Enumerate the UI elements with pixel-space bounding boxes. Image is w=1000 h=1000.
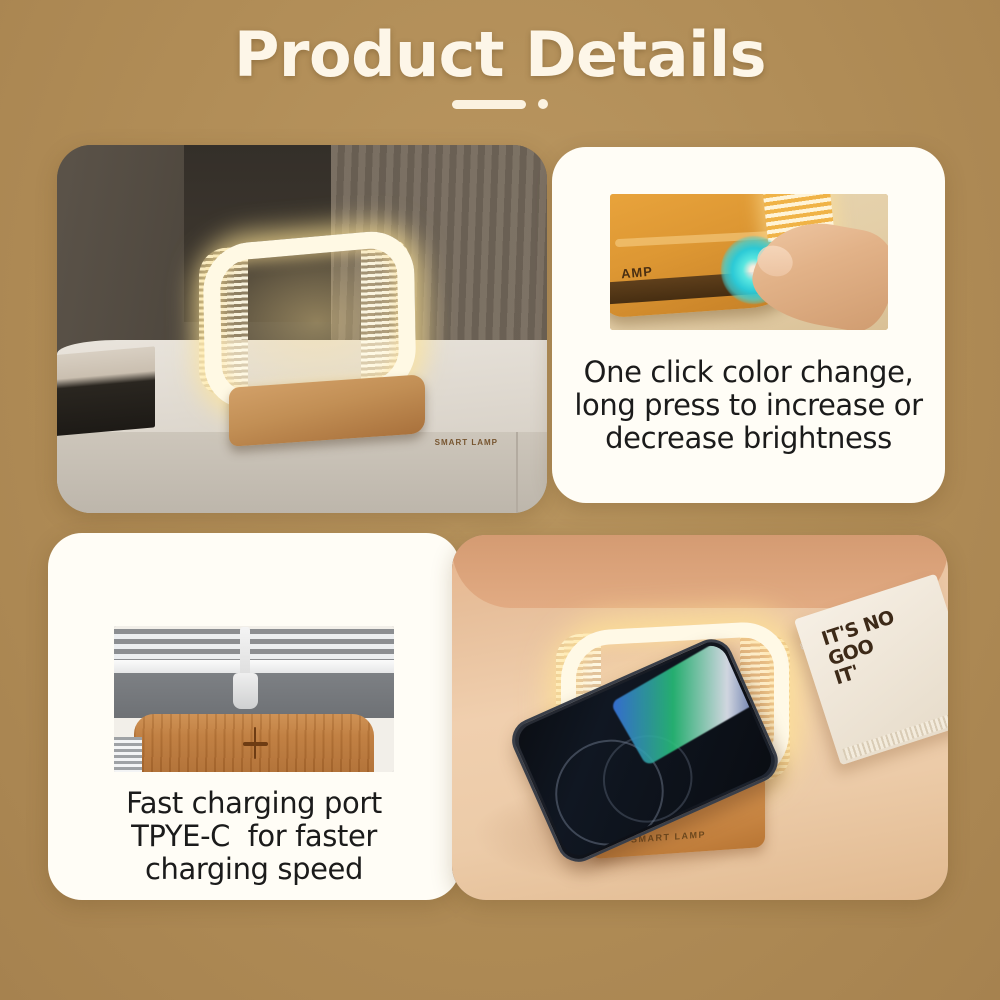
card-touch-control[interactable]: AMP One click color change, long press t… <box>552 147 945 503</box>
usb-c-plug <box>233 673 258 710</box>
caption-line: One click color change, <box>566 356 931 389</box>
caption-line: long press to increase or <box>566 389 931 422</box>
photo-touch-control: AMP <box>610 194 888 330</box>
card-charging-port[interactable]: Fast charging port TPYE-C for faster cha… <box>48 533 460 900</box>
nightstand-drawer-seam <box>516 432 518 513</box>
stacked-books <box>57 346 155 436</box>
underline-dot-icon <box>538 99 548 109</box>
card-wireless-charging[interactable]: SMART LAMP 80% Charged IT'S NO GOO IT' <box>452 535 948 900</box>
lamp-white-band <box>114 660 394 673</box>
page-title: Product Details <box>0 22 1000 87</box>
caption-line: decrease brightness <box>566 422 931 455</box>
photo-charging-port <box>114 626 394 772</box>
book-title: IT'S NO GOO IT' <box>820 608 910 689</box>
card-lamp-on-nightstand[interactable]: SMART LAMP <box>57 145 547 513</box>
lamp-led-fins-side <box>114 737 142 772</box>
caption-charging-port: Fast charging port TPYE-C for faster cha… <box>62 787 446 885</box>
product-label: SMART LAMP <box>435 438 498 447</box>
caption-line: charging speed <box>62 853 446 886</box>
coil-mark-horizontal <box>243 742 268 746</box>
underline-bar-icon <box>452 100 526 109</box>
caption-line: TPYE-C for faster <box>62 820 446 853</box>
caption-touch-control: One click color change, long press to in… <box>566 356 931 454</box>
header: Product Details <box>0 22 1000 109</box>
wireless-coil-mark-icon <box>243 727 268 759</box>
photo-wireless-charging: SMART LAMP 80% Charged IT'S NO GOO IT' <box>452 535 948 900</box>
lamp-led-fins-top <box>114 629 394 660</box>
title-underline-decoration <box>0 99 1000 109</box>
caption-line: Fast charging port <box>62 787 446 820</box>
photo-lamp-on-nightstand: SMART LAMP <box>57 145 547 513</box>
product-label-partial: AMP <box>620 263 653 281</box>
